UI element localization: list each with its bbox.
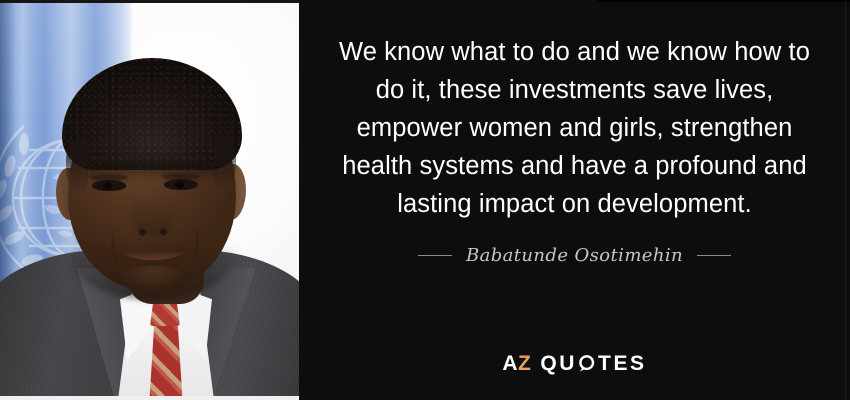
photo-top-edge	[0, 0, 299, 3]
quote-card: We know what to do and we know how to do…	[0, 0, 850, 400]
eye-right	[164, 179, 198, 190]
sideburn-right	[214, 136, 236, 190]
nostrils	[134, 228, 172, 236]
logo-quotes-suffix: TES	[598, 353, 647, 374]
logo-letter-a: A	[502, 352, 518, 375]
panel-top-edge	[598, 0, 850, 2]
logo-letter-z: Z	[518, 352, 531, 375]
az-quotes-logo[interactable]: AZ QU TES	[299, 353, 850, 374]
speech-bubble-icon	[578, 355, 595, 372]
logo-quotes-word: QU TES	[540, 353, 646, 374]
attribution-dash-left	[418, 255, 452, 256]
quote-panel: We know what to do and we know how to do…	[299, 0, 850, 400]
attribution-author-name: Babatunde Osotimehin	[466, 245, 683, 266]
quote-text: We know what to do and we know how to do…	[335, 33, 815, 223]
photo-bottom-edge	[0, 396, 299, 400]
portrait-image	[0, 0, 299, 400]
logo-az-mark: AZ	[502, 353, 531, 374]
sideburn-left	[66, 140, 88, 194]
eye-left	[92, 180, 126, 191]
attribution: Babatunde Osotimehin	[418, 245, 731, 266]
logo-quotes-prefix: QU	[540, 353, 577, 374]
panel-right-edge	[845, 0, 846, 400]
attribution-dash-right	[697, 255, 731, 256]
person-figure	[0, 0, 299, 400]
chin	[118, 266, 188, 292]
